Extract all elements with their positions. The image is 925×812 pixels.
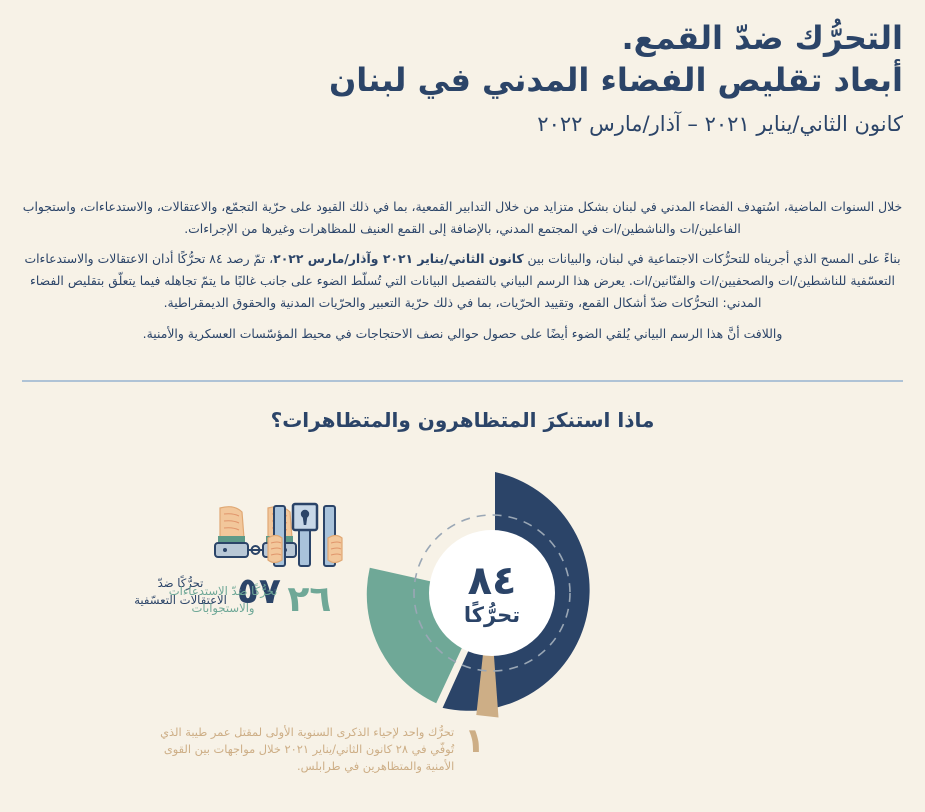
chart-center-total: ٨٤ تحرُّكًا: [429, 530, 555, 656]
callout-left-row: ٢٦ تحرُّكًا ضدّ الاستدعاءات والاستجوابات: [150, 582, 350, 618]
pie-chart: ٨٤ تحرُّكًا: [332, 452, 652, 712]
page-title-line1: التحرُّك ضدّ القمع.: [22, 18, 903, 60]
callout-left-text-line2: والاستجوابات: [169, 600, 278, 617]
chart-area: ٨٤ تحرُّكًا: [0, 452, 925, 812]
intro-paragraph-3: واللافت أنَّ هذا الرسم البياني يُلقي الض…: [22, 323, 903, 345]
chart-total-number: ٨٤: [468, 561, 517, 601]
jail-bars-hands-icon: [150, 500, 350, 576]
intro-p2-before: بناءً على المسح الذي أجريناه للتحرُّكات …: [524, 251, 901, 266]
page-subtitle-daterange: كانون الثاني/يناير ٢٠٢١ – آذار/مارس ٢٠٢٢: [22, 111, 903, 138]
section-divider: [22, 380, 903, 382]
intro-paragraph-2: بناءً على المسح الذي أجريناه للتحرُّكات …: [22, 248, 903, 313]
callout-summons-interrogations: ٢٦ تحرُّكًا ضدّ الاستدعاءات والاستجوابات: [150, 500, 350, 618]
infographic-page: التحرُّك ضدّ القمع. أبعاد تقليص الفضاء ا…: [0, 0, 925, 812]
intro-p2-bold-daterange: كانون الثاني/يناير ٢٠٢١ وآذار/مارس ٢٠٢٢: [273, 251, 523, 266]
callout-omar-taybeh-memorial: ١ تحرُّك واحد لإحياء الذكرى السنوية الأو…: [140, 724, 485, 775]
page-title-line2: أبعاد تقليص الفضاء المدني في لبنان: [22, 60, 903, 102]
callout-left-text: تحرُّكًا ضدّ الاستدعاءات والاستجوابات: [169, 583, 278, 617]
section-heading: ماذا استنكرَ المتظاهرون والمتظاهرات؟: [22, 408, 903, 432]
header: التحرُّك ضدّ القمع. أبعاد تقليص الفضاء ا…: [22, 18, 903, 138]
callout-left-text-line1: تحرُّكًا ضدّ الاستدعاءات: [169, 583, 278, 600]
callout-bottom-text: تحرُّك واحد لإحياء الذكرى السنوية الأولى…: [140, 724, 454, 775]
intro-text-block: خلال السنوات الماضية، اسُتهدف الفضاء الم…: [22, 196, 903, 353]
chart-total-label: تحرُّكًا: [464, 605, 520, 626]
intro-paragraph-1: خلال السنوات الماضية، اسُتهدف الفضاء الم…: [22, 196, 903, 239]
callout-left-number: ٢٦: [287, 582, 331, 618]
callout-bottom-number: ١: [464, 724, 485, 758]
